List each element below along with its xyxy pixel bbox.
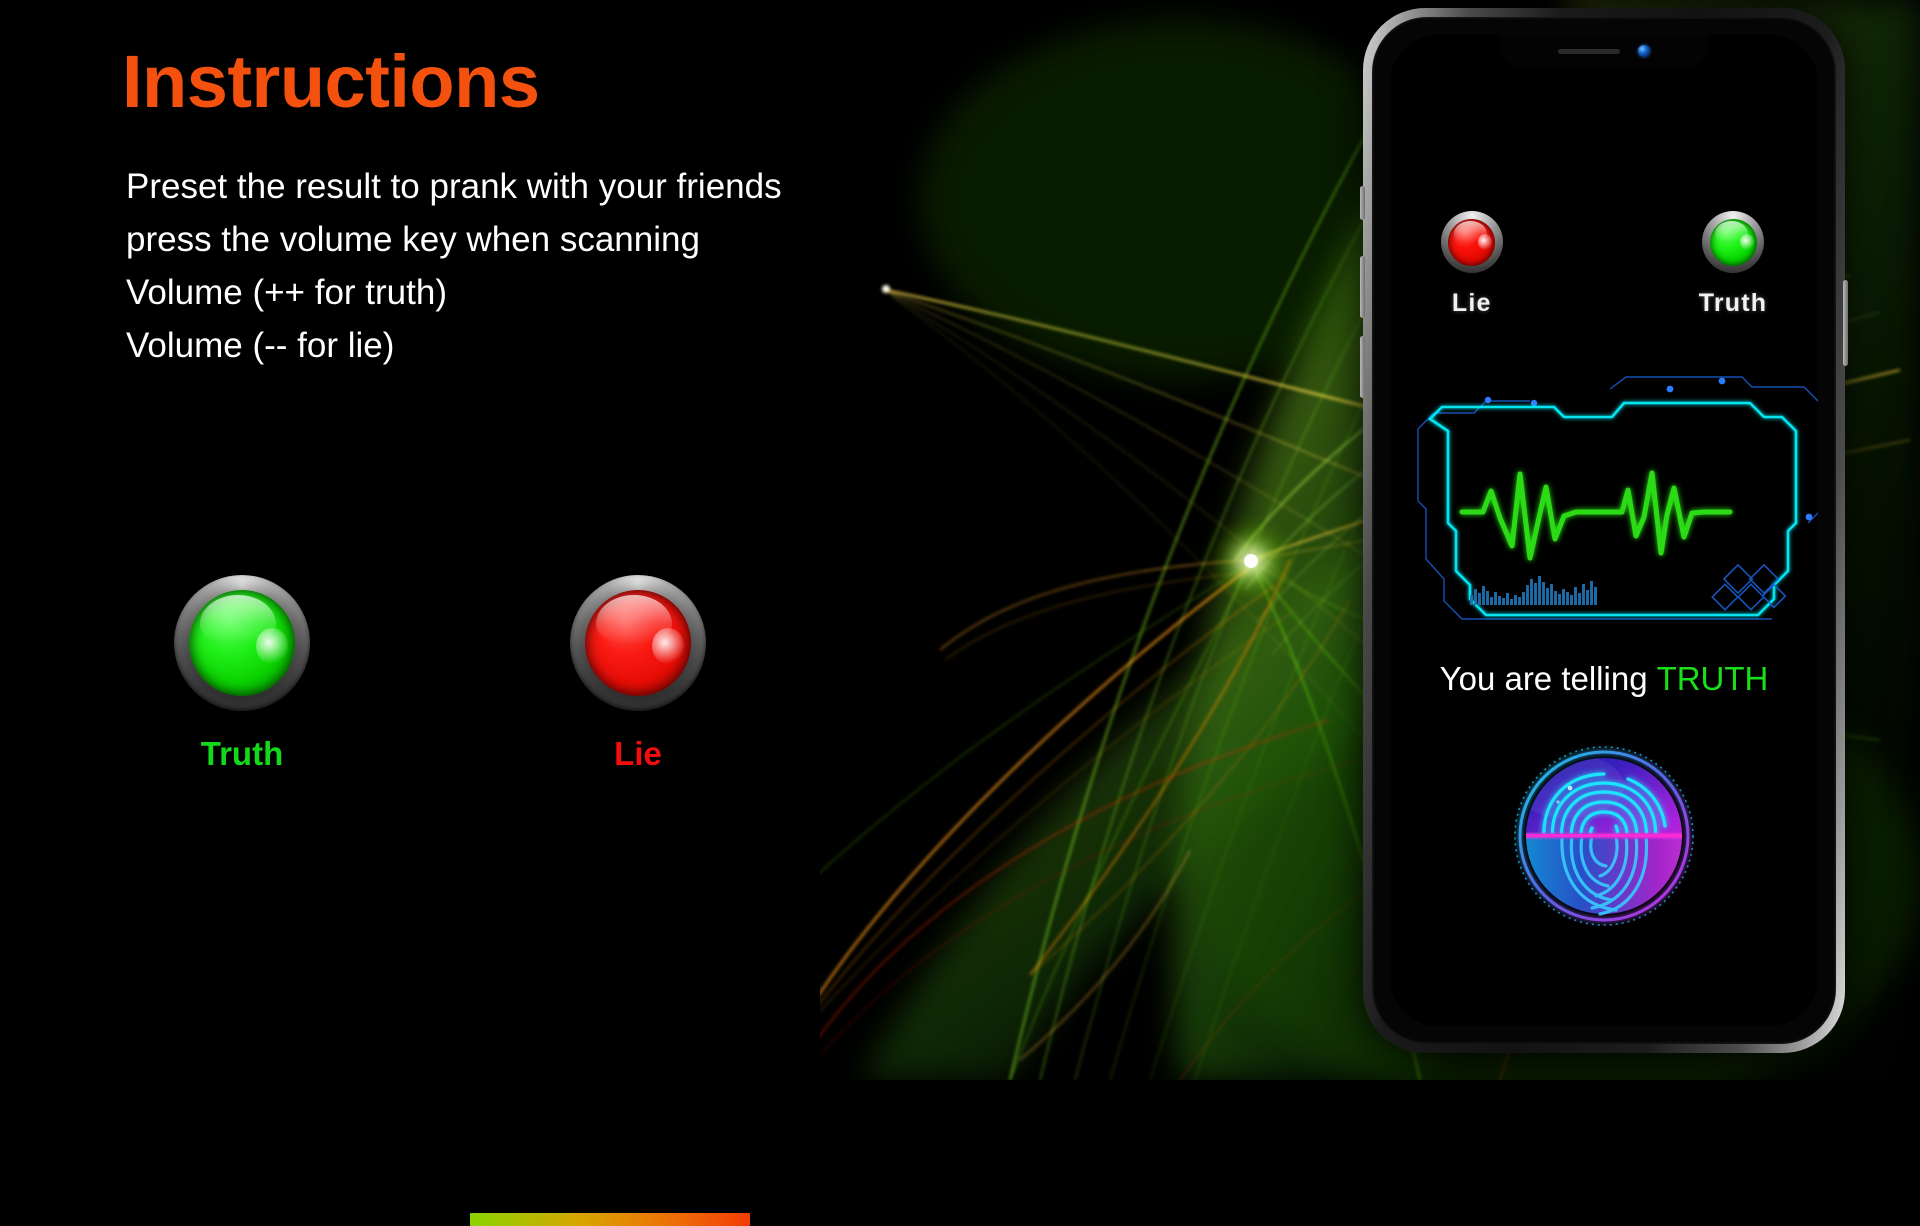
phone-mockup: Lie Truth: [1363, 8, 1845, 1053]
instruction-line-2: press the volume key when scanning: [126, 213, 782, 266]
lie-button-lens: [585, 590, 691, 696]
truth-button-lens: [189, 590, 295, 696]
lie-preset-button[interactable]: [570, 575, 706, 711]
power-button[interactable]: [1843, 280, 1848, 366]
lie-button-label: Lie: [570, 735, 706, 773]
green-indicator-lamp[interactable]: [1702, 211, 1764, 273]
result-value: TRUTH: [1657, 660, 1769, 697]
phone-screen: Lie Truth: [1390, 35, 1818, 1026]
green-lamp-lens: [1710, 219, 1757, 266]
phone-bezel: Lie Truth: [1372, 17, 1836, 1044]
result-status-text: You are tellingTRUTH: [1390, 660, 1818, 698]
app-lie-label: Lie: [1452, 289, 1492, 318]
instruction-line-1: Preset the result to prank with your fri…: [126, 160, 782, 213]
preset-result-selector: Truth Lie: [160, 575, 720, 795]
selector-connector-bar: [470, 1213, 750, 1226]
instruction-line-3: Volume (++ for truth): [126, 266, 782, 319]
app-indicator-row: Lie Truth: [1390, 211, 1818, 331]
red-indicator-lamp[interactable]: [1441, 211, 1503, 273]
front-camera-icon: [1638, 45, 1650, 57]
result-prefix: You are telling: [1440, 660, 1648, 697]
app-truth-indicator[interactable]: Truth: [1699, 211, 1768, 331]
phone-notch: [1500, 35, 1708, 67]
instruction-line-4: Volume (-- for lie): [126, 319, 782, 372]
app-lie-indicator[interactable]: Lie: [1441, 211, 1503, 331]
waveform-hud-panel: [1412, 373, 1818, 628]
page-title: Instructions: [122, 45, 539, 119]
app-truth-label: Truth: [1699, 289, 1768, 318]
red-lamp-lens: [1448, 219, 1495, 266]
volume-down-button[interactable]: [1360, 336, 1365, 398]
speaker-grille-icon: [1558, 49, 1620, 54]
instructions-text: Preset the result to prank with your fri…: [126, 160, 782, 372]
instructions-panel: Instructions Preset the result to prank …: [0, 0, 980, 1080]
truth-preset-button[interactable]: [174, 575, 310, 711]
truth-button-label: Truth: [174, 735, 310, 773]
mute-switch[interactable]: [1360, 186, 1365, 220]
volume-up-button[interactable]: [1360, 256, 1365, 318]
fingerprint-scanner-icon[interactable]: [1508, 740, 1700, 932]
